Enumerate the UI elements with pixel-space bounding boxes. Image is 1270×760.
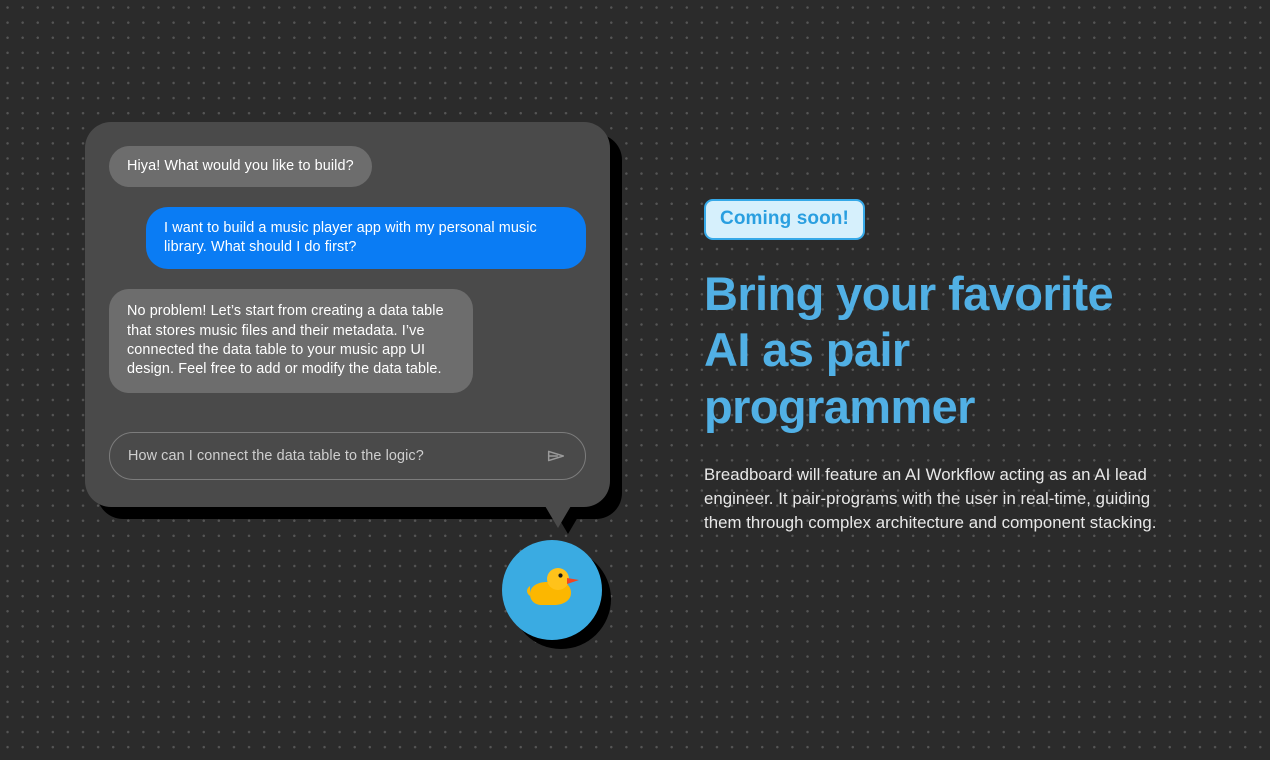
chat-bubble-user: I want to build a music player app with …	[146, 207, 586, 269]
chat-composer[interactable]: How can I connect the data table to the …	[109, 432, 586, 480]
rubber-duck-icon	[520, 558, 584, 622]
page-title: Bring your favorite AI as pair programme…	[704, 266, 1154, 435]
message-row-assistant-1: Hiya! What would you like to build?	[109, 146, 586, 187]
chat-bubble-assistant: Hiya! What would you like to build?	[109, 146, 372, 187]
status-badge: Coming soon!	[704, 199, 865, 240]
promo-section: Coming soon! Bring your favorite AI as p…	[704, 199, 1184, 535]
speech-bubble-tail	[538, 494, 578, 528]
chat-bubble-assistant-long: No problem! Let’s start from creating a …	[109, 289, 473, 393]
chat-panel: Hiya! What would you like to build? I wa…	[85, 122, 610, 507]
promo-description: Breadboard will feature an AI Workflow a…	[704, 463, 1166, 535]
page-root: Hiya! What would you like to build? I wa…	[0, 0, 1270, 760]
avatar	[502, 540, 602, 640]
send-icon[interactable]	[545, 445, 567, 467]
message-row-assistant-2: No problem! Let’s start from creating a …	[109, 289, 586, 393]
message-row-user: I want to build a music player app with …	[109, 207, 586, 269]
chat-input[interactable]: How can I connect the data table to the …	[128, 448, 545, 464]
